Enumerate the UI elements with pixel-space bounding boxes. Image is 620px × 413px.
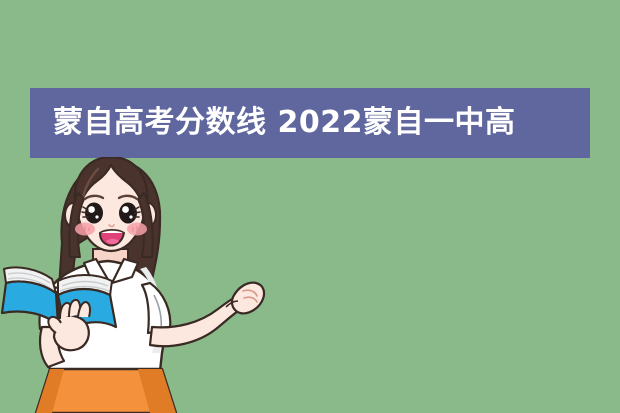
skirt-group bbox=[36, 369, 176, 413]
blush-left bbox=[75, 223, 95, 236]
student-illustration bbox=[0, 157, 620, 413]
blush-right bbox=[127, 223, 147, 236]
student-illustration-svg bbox=[0, 157, 620, 413]
page-title: 蒙自高考分数线 2022蒙自一中高 bbox=[30, 88, 515, 158]
screenshot-canvas: 蒙自高考分数线 2022蒙自一中高 bbox=[0, 0, 620, 413]
title-banner: 蒙自高考分数线 2022蒙自一中高 bbox=[30, 88, 590, 158]
